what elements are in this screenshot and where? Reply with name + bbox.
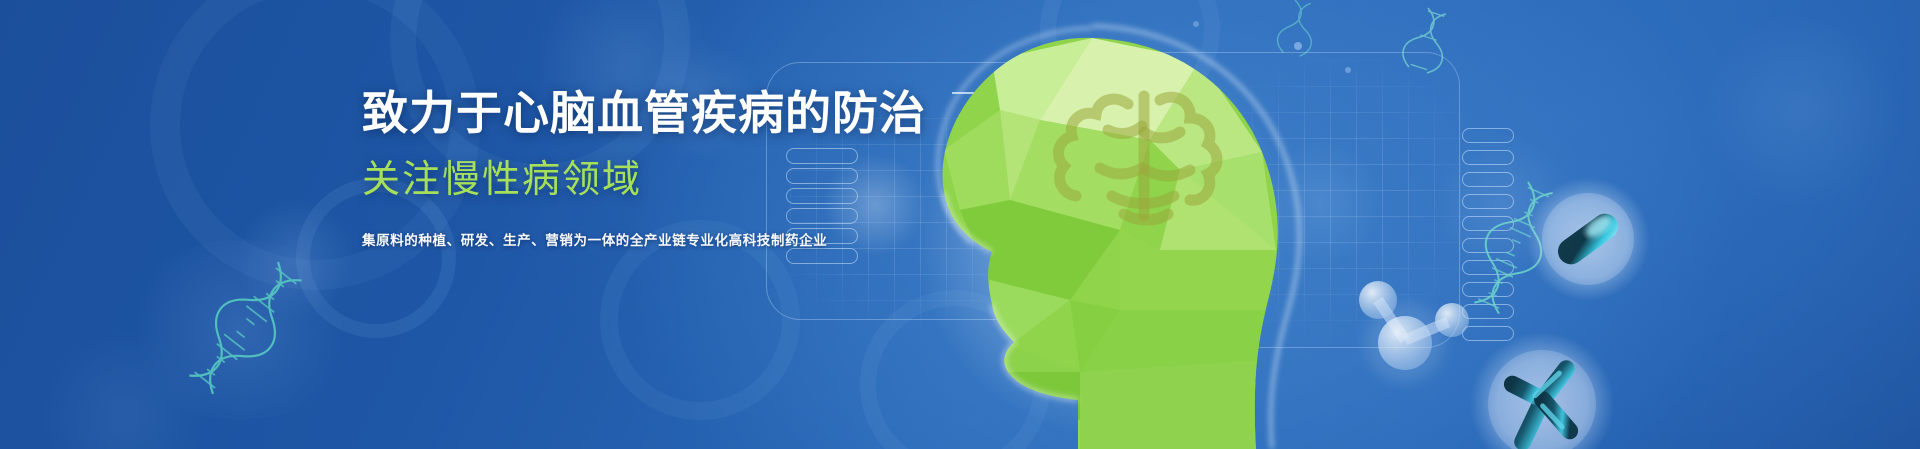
hud-panel-frame [1120,52,1460,348]
dna-helix-icon [1399,5,1456,76]
speck [1345,67,1351,73]
chromosome-cell-icon [1470,332,1614,449]
dna-helix-icon [1461,176,1567,320]
banner-copy: 致力于心脑血管疾病的防治 关注慢性病领域 集原料的种植、研发、生产、营销为一体的… [362,88,1082,249]
hud-grid-panel [1200,60,1490,360]
hud-slot [1462,150,1514,165]
bokeh-blob [120,240,360,420]
banner-headline: 致力于心脑血管疾病的防治 [362,88,1082,140]
bacterium-cell-icon [1526,177,1650,301]
head-outline-glow [1092,26,1299,449]
banner-tagline: 集原料的种植、研发、生产、营销为一体的全产业链专业化高科技制药企业 [362,229,1082,249]
bokeh-blob [1256,138,1386,268]
speck [1193,21,1199,27]
bokeh-blob [1430,130,1580,280]
bokeh-blob [1700,10,1900,210]
hud-slot [1462,260,1514,275]
banner-subhead: 关注慢性病领域 [362,148,1082,203]
hud-slot [1462,282,1514,297]
bokeh-blob [236,198,356,318]
dna-helix-icon [176,252,314,404]
bokeh-ring [860,290,1050,449]
hud-slot [1462,216,1514,231]
hud-slot [1462,238,1514,253]
bokeh-ring [600,220,800,420]
speck [1294,42,1302,50]
hud-slot [1462,194,1514,209]
molecule-icon [1359,281,1469,383]
hud-slot [1462,128,1514,143]
hud-slot [1462,172,1514,187]
hud-slot [1462,304,1514,319]
bokeh-blob [40,330,210,449]
hud-slot [1462,326,1514,341]
brain-overlay-icon [1058,96,1217,220]
hud-slot [786,248,858,264]
hero-banner: 致力于心脑血管疾病的防治 关注慢性病领域 集原料的种植、研发、生产、营销为一体的… [0,0,1920,449]
dna-helix-icon [1275,0,1319,58]
